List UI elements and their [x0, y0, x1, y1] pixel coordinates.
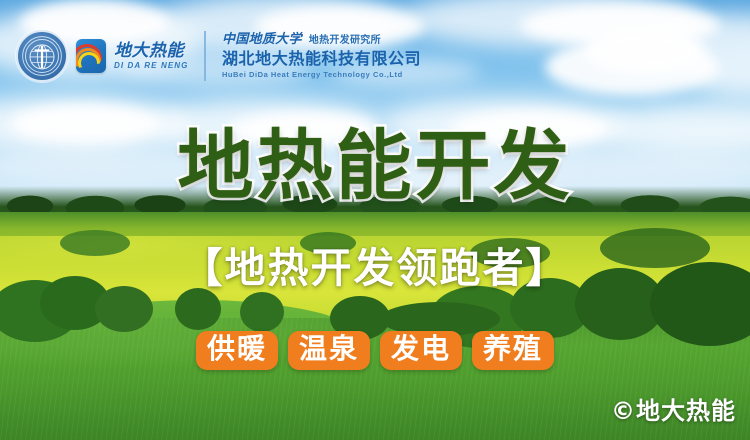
promo-banner: 地大热能 DI DA RE NENG 中国地质大学 地热开发研究所 湖北地大热能…: [0, 0, 750, 440]
organization-top-row: 中国地质大学 地热开发研究所: [222, 33, 421, 48]
wordmark-cn: 地大热能: [114, 43, 188, 60]
tag-list: 供暖 温泉 发电 养殖: [0, 331, 750, 370]
organization-block: 中国地质大学 地热开发研究所 湖北地大热能科技有限公司 HuBei DiDa H…: [222, 33, 421, 79]
dida-wordmark: 地大热能 DI DA RE NENG: [114, 43, 188, 70]
tag-power[interactable]: 发电: [380, 331, 462, 370]
tag-aquaculture[interactable]: 养殖: [472, 331, 554, 370]
tag-heating[interactable]: 供暖: [196, 331, 278, 370]
vertical-divider: [204, 31, 206, 81]
institute-name: 地热开发研究所: [309, 35, 381, 46]
tag-hot-spring[interactable]: 温泉: [288, 331, 370, 370]
tree-shape: [95, 286, 153, 332]
brand-header: 地大热能 DI DA RE NENG 中国地质大学 地热开发研究所 湖北地大热能…: [16, 30, 421, 82]
company-name-cn: 湖北地大热能科技有限公司: [222, 50, 421, 68]
copyright-watermark: ©地大热能: [611, 391, 736, 426]
university-name: 中国地质大学: [222, 33, 302, 48]
wordmark-en: DI DA RE NENG: [114, 62, 188, 70]
tree-shape: [240, 292, 284, 332]
headline-title: 地热能开发: [0, 128, 750, 204]
university-seal-icon: [16, 30, 68, 82]
company-name-en: HuBei DiDa Heat Energy Technology Co.,Lt…: [222, 71, 421, 79]
dida-rainbow-logo-icon: [76, 39, 106, 73]
sub-headline: 【地热开发领跑者】: [0, 248, 750, 289]
cloud-shape: [585, 28, 705, 74]
tree-shape: [175, 288, 221, 330]
